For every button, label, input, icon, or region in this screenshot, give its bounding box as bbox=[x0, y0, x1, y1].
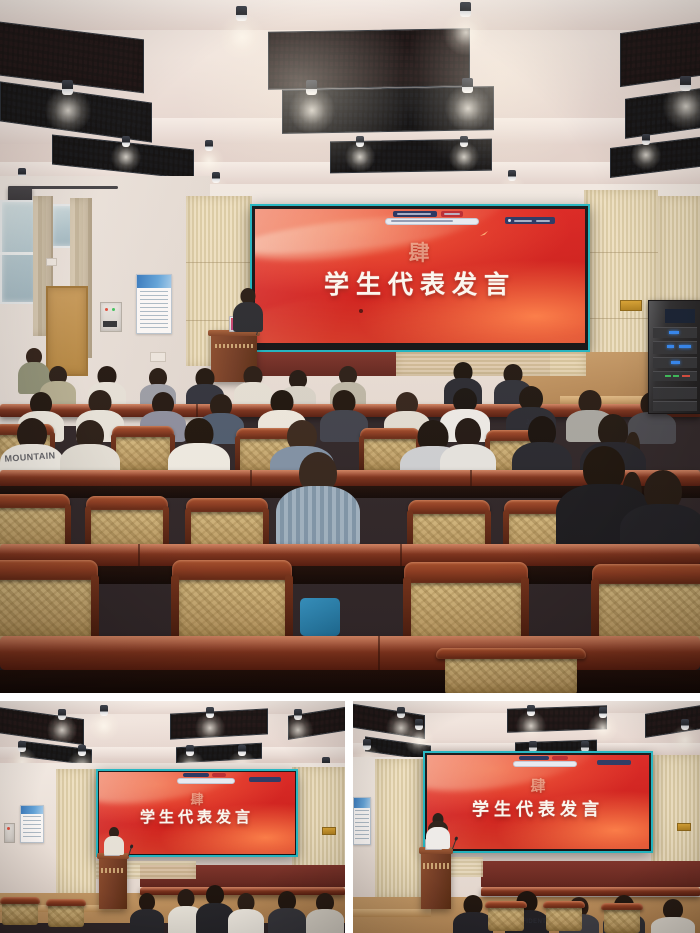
ceiling-downlight bbox=[460, 2, 471, 17]
seat-cap bbox=[0, 560, 98, 580]
rack-led bbox=[669, 331, 679, 334]
led-screen-frame: 肆 学生代表发言 bbox=[250, 204, 590, 352]
podium-engraving bbox=[101, 868, 125, 873]
rack-led bbox=[665, 375, 671, 377]
seat-cap bbox=[46, 899, 86, 906]
seat-back bbox=[604, 908, 641, 933]
seat-back bbox=[0, 573, 91, 642]
body bbox=[268, 908, 306, 933]
rack-led bbox=[667, 345, 674, 348]
acoustic-panel bbox=[56, 769, 96, 897]
seat-cap bbox=[436, 648, 586, 659]
auditorium-seat bbox=[112, 426, 174, 472]
seat-cap bbox=[485, 901, 527, 908]
indicator-led bbox=[105, 308, 108, 311]
led-screen-bezel bbox=[250, 204, 590, 352]
indicator-led bbox=[7, 827, 10, 830]
desk-seam bbox=[378, 636, 380, 670]
auditorium-seat bbox=[46, 899, 86, 927]
speaker-at-podium-female bbox=[426, 813, 450, 849]
wall-sign bbox=[620, 300, 642, 311]
audience-member-foreground bbox=[276, 452, 360, 548]
wall-control-panel[interactable] bbox=[4, 823, 15, 843]
desk-seam bbox=[250, 470, 252, 486]
ceiling-downlight bbox=[236, 6, 247, 21]
speaker-body bbox=[104, 836, 124, 855]
indicator-led bbox=[112, 308, 115, 311]
ceiling-downlight bbox=[681, 719, 689, 730]
ceiling-downlight bbox=[508, 170, 516, 181]
podium-engraving bbox=[423, 863, 448, 869]
stage-skirt-panel bbox=[396, 352, 586, 376]
wall-control-panel[interactable] bbox=[100, 302, 122, 332]
ceiling-downlight bbox=[238, 745, 246, 756]
panel-right-view: 肆 学生代表发言 bbox=[353, 701, 700, 933]
auditorium-seat bbox=[436, 648, 586, 693]
ceiling-downlight bbox=[599, 707, 607, 718]
seat-cap bbox=[112, 426, 174, 437]
head bbox=[206, 885, 224, 905]
panel-left-view: 肆 学生代表发言 bbox=[0, 701, 345, 933]
rack-led bbox=[673, 375, 679, 377]
speaker-at-podium bbox=[104, 827, 124, 855]
desk-row bbox=[0, 636, 700, 670]
seat-cap bbox=[0, 494, 70, 508]
backpack bbox=[300, 598, 340, 636]
auditorium-seat bbox=[172, 560, 292, 644]
body bbox=[306, 909, 344, 933]
wall-poster bbox=[20, 805, 44, 843]
wall-poster bbox=[136, 274, 172, 334]
speaker-body bbox=[426, 827, 450, 849]
av-equipment-rack[interactable] bbox=[648, 300, 700, 414]
seat-cap bbox=[592, 564, 700, 584]
rack-unit bbox=[653, 401, 697, 411]
poster-text-lines bbox=[23, 816, 41, 840]
wall-outlet bbox=[46, 258, 57, 266]
rack-led bbox=[679, 345, 691, 348]
auditorium-seat bbox=[543, 901, 585, 931]
seat-back bbox=[179, 573, 285, 644]
seat-cap bbox=[0, 897, 40, 904]
body bbox=[276, 486, 360, 548]
seat-arm bbox=[235, 436, 239, 474]
wall-sign bbox=[322, 827, 336, 835]
seat-cap bbox=[408, 500, 490, 514]
audience-member bbox=[228, 893, 264, 933]
panel-main-view: 肆 学生代表发言 bbox=[0, 0, 700, 693]
stage-edge bbox=[353, 909, 431, 917]
acoustic-panel bbox=[658, 196, 700, 306]
seat-back bbox=[2, 901, 37, 925]
poster-header bbox=[354, 798, 370, 808]
desk-seam bbox=[470, 470, 472, 486]
seat-arm bbox=[171, 575, 179, 644]
ceiling-downlight bbox=[356, 136, 364, 147]
ceiling-downlight bbox=[122, 136, 130, 147]
poster-text-lines bbox=[140, 291, 169, 329]
ceiling-downlight bbox=[460, 136, 468, 147]
auditorium-seat bbox=[485, 901, 527, 931]
lecture-hall-right: 肆 学生代表发言 bbox=[353, 701, 700, 933]
audience-member bbox=[268, 891, 306, 933]
ceiling-downlight bbox=[680, 76, 691, 91]
seat-back bbox=[116, 433, 171, 472]
ceiling-downlight bbox=[100, 705, 108, 716]
ceiling-grid-panel bbox=[268, 28, 470, 90]
poster-header bbox=[137, 275, 171, 288]
led-screen-frame: 肆 学生代表发言 bbox=[96, 769, 298, 857]
ceiling-downlight bbox=[527, 705, 535, 716]
window-mullion bbox=[0, 252, 34, 255]
wall-poster bbox=[353, 797, 371, 845]
led-screen-bezel bbox=[96, 769, 298, 857]
panel-seam bbox=[584, 252, 658, 253]
ceiling-downlight bbox=[78, 745, 86, 756]
panel-seam bbox=[584, 318, 658, 319]
lecture-hall-left: 肆 学生代表发言 bbox=[0, 701, 345, 933]
seat-arm bbox=[91, 575, 99, 642]
seat-arm bbox=[359, 436, 363, 472]
seat-cap bbox=[601, 903, 643, 910]
door bbox=[46, 286, 88, 376]
desk-seam bbox=[138, 544, 140, 566]
seat-back bbox=[546, 906, 583, 931]
body bbox=[130, 909, 164, 933]
rack-unit bbox=[653, 387, 697, 399]
ceiling-downlight bbox=[294, 709, 302, 720]
auditorium-seat bbox=[601, 903, 643, 933]
seat-cap bbox=[86, 496, 168, 510]
seat-cap bbox=[543, 901, 585, 908]
seat-back bbox=[488, 906, 525, 931]
ceiling-downlight bbox=[642, 134, 650, 145]
ceiling-downlight bbox=[212, 172, 220, 183]
podium bbox=[421, 847, 451, 909]
wall-outlet bbox=[150, 352, 166, 362]
rack-display bbox=[665, 309, 695, 323]
desk-row bbox=[0, 544, 700, 566]
speaker-body bbox=[233, 302, 263, 332]
ceiling-downlight bbox=[462, 78, 473, 93]
lecture-hall-main: 肆 学生代表发言 bbox=[0, 0, 700, 693]
ceiling-downlight bbox=[186, 745, 194, 756]
poster-text-lines bbox=[355, 810, 368, 840]
audience-member bbox=[130, 893, 164, 933]
seat-back bbox=[445, 655, 577, 693]
body bbox=[228, 909, 264, 933]
seat-cap bbox=[404, 562, 528, 583]
photo-collage: 肆 学生代表发言 bbox=[0, 0, 700, 933]
ceiling-downlight bbox=[306, 80, 317, 95]
wall-sign bbox=[677, 823, 691, 831]
panel-seam bbox=[186, 262, 252, 263]
audience-member bbox=[651, 899, 695, 933]
control-panel-display bbox=[103, 321, 117, 327]
seat-arm bbox=[285, 575, 293, 644]
seat-cap bbox=[172, 560, 292, 580]
ceiling-downlight bbox=[205, 140, 213, 151]
stage-front-panel bbox=[481, 861, 700, 887]
ceiling-downlight bbox=[363, 739, 371, 750]
seat-cap bbox=[186, 498, 268, 512]
ceiling-downlight bbox=[397, 707, 405, 718]
poster-header bbox=[21, 806, 43, 814]
ceiling-downlight bbox=[58, 709, 66, 720]
body bbox=[651, 917, 695, 933]
desk-gloss bbox=[0, 544, 700, 554]
auditorium-seat bbox=[0, 897, 40, 925]
auditorium-seat bbox=[0, 560, 98, 642]
ceiling-downlight bbox=[206, 707, 214, 718]
audience-member bbox=[306, 893, 344, 933]
ceiling-downlight bbox=[18, 741, 26, 752]
acoustic-panel bbox=[375, 759, 423, 899]
rack-led bbox=[682, 375, 690, 377]
rack-led bbox=[671, 361, 680, 364]
podium-engraving bbox=[215, 344, 254, 349]
ceiling-downlight bbox=[62, 80, 73, 95]
speaker-at-podium bbox=[233, 288, 263, 332]
desk-shadow bbox=[0, 670, 700, 693]
seat-back bbox=[48, 903, 83, 927]
desk-seam bbox=[400, 544, 402, 566]
desk-gloss bbox=[0, 636, 700, 652]
ceiling-beam bbox=[0, 0, 700, 30]
ceiling-downlight bbox=[415, 719, 423, 730]
podium bbox=[99, 853, 127, 909]
